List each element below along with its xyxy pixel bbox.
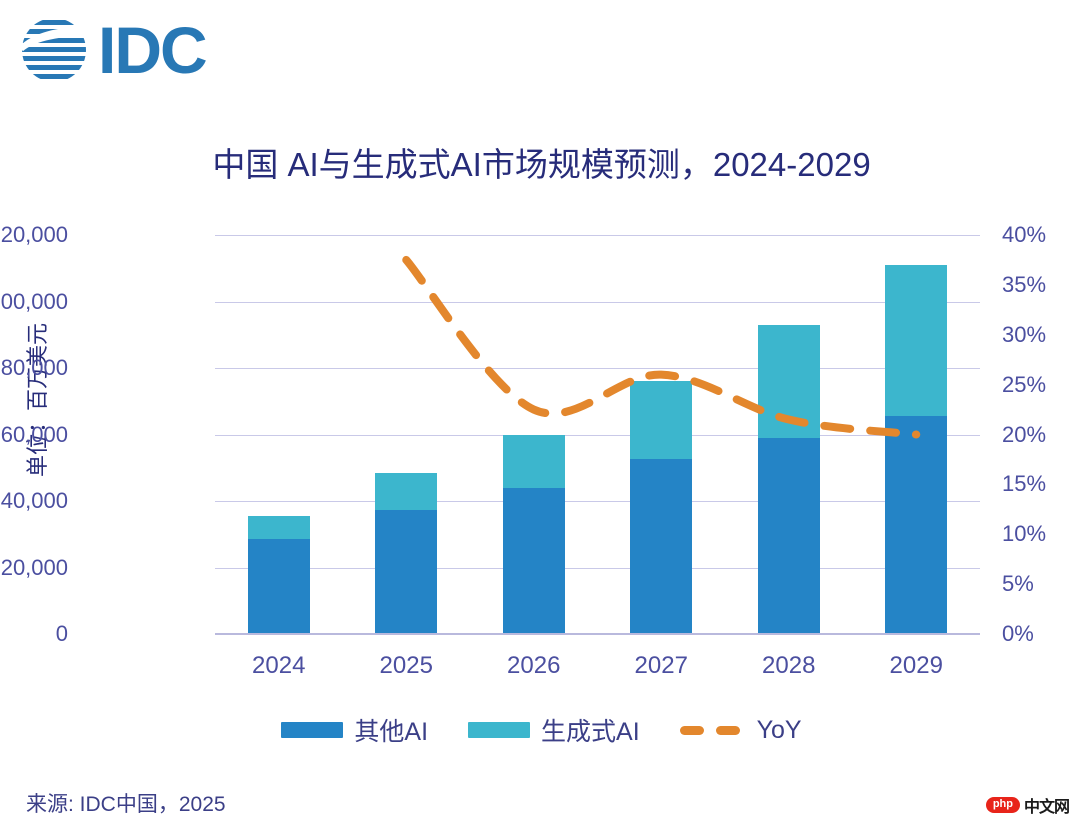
- y-tick-right: 10%: [1002, 521, 1083, 547]
- chart-plot-area: [215, 235, 980, 634]
- legend-swatch-icon: [281, 722, 343, 738]
- source-note: 来源: IDC中国，2025: [26, 788, 226, 818]
- legend-swatch-icon: [468, 722, 530, 738]
- y-tick-left: 120,000: [0, 222, 68, 248]
- y-tick-right: 30%: [1002, 322, 1083, 348]
- logo-wordmark: IDC: [98, 17, 206, 83]
- idc-logo: IDC: [18, 14, 206, 86]
- y-tick-left: 20,000: [0, 555, 68, 581]
- y-tick-right: 40%: [1002, 222, 1083, 248]
- striped-globe-icon: [18, 14, 90, 86]
- y-tick-right: 5%: [1002, 571, 1083, 597]
- y-tick-left: 0: [0, 621, 68, 647]
- x-tick-2027: 2027: [635, 652, 688, 680]
- php-badge-icon: php: [986, 797, 1020, 813]
- y-tick-left: 80,000: [0, 355, 68, 381]
- y-tick-right: 0%: [1002, 621, 1083, 647]
- y-tick-left: 60,000: [0, 422, 68, 448]
- y-tick-left: 100,000: [0, 289, 68, 315]
- y-tick-right: 15%: [1002, 471, 1083, 497]
- watermark-text: 中文网: [1024, 793, 1069, 817]
- legend-item[interactable]: 生成式AI: [468, 712, 640, 748]
- legend-label: YoY: [757, 716, 802, 745]
- y-axis-title: 单位：百万美元: [20, 323, 52, 477]
- x-tick-2025: 2025: [380, 652, 433, 680]
- watermark: php 中文网: [986, 793, 1069, 817]
- yoy-dashed-path: [406, 260, 916, 435]
- legend-item[interactable]: 其他AI: [281, 712, 428, 748]
- x-tick-2028: 2028: [762, 652, 815, 680]
- x-tick-2029: 2029: [890, 652, 943, 680]
- x-tick-2024: 2024: [252, 652, 305, 680]
- y-tick-right: 25%: [1002, 372, 1083, 398]
- y-tick-right: 20%: [1002, 422, 1083, 448]
- x-tick-2026: 2026: [507, 652, 560, 680]
- page-title: 中国 AI与生成式AI市场规模预测，2024-2029: [0, 138, 1083, 186]
- legend-item[interactable]: YoY: [680, 716, 802, 745]
- yoy-line: [215, 235, 980, 634]
- y-tick-right: 35%: [1002, 272, 1083, 298]
- legend-dashed-line-icon: [680, 726, 746, 735]
- legend-label: 其他AI: [354, 712, 428, 748]
- legend-label: 生成式AI: [541, 712, 640, 748]
- x-axis-line: [215, 633, 980, 635]
- y-tick-left: 40,000: [0, 488, 68, 514]
- chart-legend: 其他AI生成式AIYoY: [0, 712, 1083, 748]
